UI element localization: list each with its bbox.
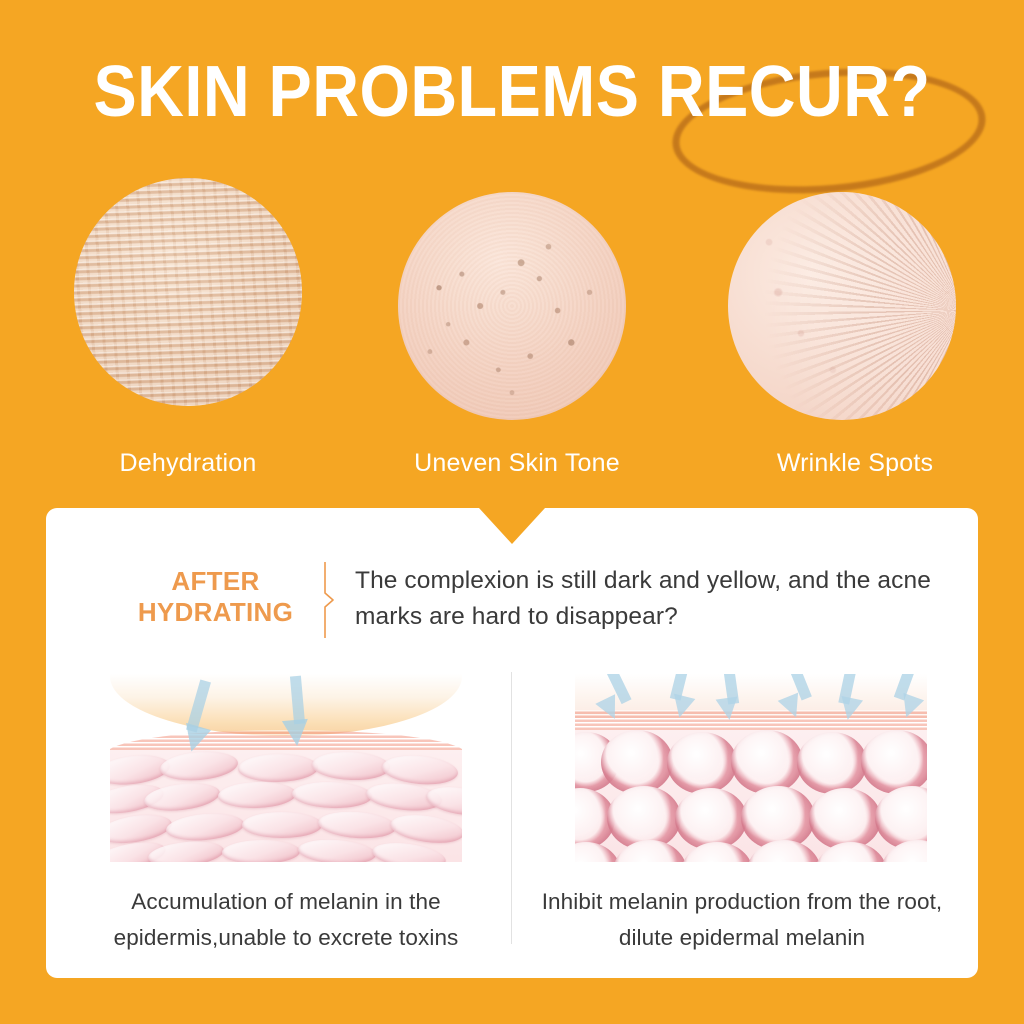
after-hydrating-badge: AFTER HYDRATING [128, 566, 303, 628]
card-pointer-notch-icon [479, 508, 545, 544]
absorption-arrow-icon [282, 719, 310, 747]
page-title: SKIN PROBLEMS RECUR? [51, 44, 973, 140]
lead-text: The complexion is still dark and yellow,… [355, 563, 935, 635]
dermis-layer [110, 750, 462, 862]
badge-line-1: AFTER [171, 566, 259, 596]
problem-label-uneven-skin-tone: Uneven Skin Tone [352, 448, 682, 478]
dermis-layer [575, 730, 927, 862]
panel-caption-right: Inhibit melanin production from the root… [532, 884, 952, 956]
panel-divider [511, 672, 512, 944]
wrinkled-skin-texture [728, 192, 956, 420]
skin-diagram-right [575, 674, 927, 862]
title-area: SKIN PROBLEMS RECUR? [0, 44, 1024, 144]
dry-skin-texture [74, 178, 302, 406]
problem-label-wrinkle-spots: Wrinkle Spots [690, 448, 1020, 478]
spotted-skin-texture [398, 192, 626, 420]
epidermis-band [575, 710, 927, 732]
absorption-arrow-icon [837, 696, 863, 722]
problem-label-dehydration: Dehydration [23, 448, 353, 478]
problem-image-wrinkle-spots [728, 192, 956, 420]
problem-image-dehydration [74, 178, 302, 406]
badge-line-2: HYDRATING [138, 597, 293, 627]
skin-diagram-left [110, 674, 462, 862]
absorption-arrow-icon [716, 697, 741, 722]
panel-caption-left: Accumulation of melanin in the epidermis… [76, 884, 496, 956]
problem-image-uneven-skin-tone [398, 192, 626, 420]
brace-divider-icon [322, 562, 338, 638]
skincare-infographic-poster: SKIN PROBLEMS RECUR? Dehydration Uneven … [0, 0, 1024, 1024]
